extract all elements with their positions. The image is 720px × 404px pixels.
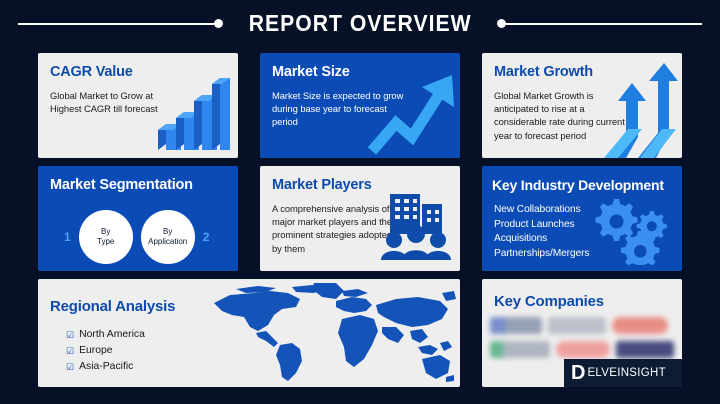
- list-item: New Collaborations: [494, 203, 589, 218]
- gears-icon: [588, 197, 670, 265]
- list-item: Partnerships/Mergers: [494, 247, 589, 262]
- segment-1-line2: Type: [97, 237, 114, 247]
- region-label: Asia-Pacific: [79, 359, 133, 375]
- list-item: Acquisitions: [494, 232, 589, 247]
- card-key-industry-development-title: Key Industry Development: [492, 177, 664, 193]
- company-logo-5: [556, 341, 610, 358]
- card-market-segmentation-title: Market Segmentation: [50, 177, 193, 193]
- delveinsight-logo: D ELVEINSIGHT: [564, 359, 682, 387]
- page-title: REPORT OVERVIEW: [234, 10, 486, 37]
- card-market-growth-body: Global Market Growth is anticipated to r…: [494, 89, 634, 142]
- segment-1-line1: By: [101, 227, 110, 237]
- brand-name: ELVEINSIGHT: [587, 367, 666, 379]
- segment-circle-by-type[interactable]: By Type: [79, 210, 133, 264]
- region-label: North America: [79, 327, 145, 343]
- bar-chart-icon: [154, 74, 230, 150]
- header-rule-left-icon: [18, 23, 214, 25]
- company-logo-2: [548, 317, 606, 334]
- list-item: Product Launches: [494, 218, 589, 233]
- segment-number-2: 2: [203, 230, 210, 244]
- segment-2-line1: By: [163, 227, 172, 237]
- card-market-players-body: A comprehensive analysis of major market…: [272, 202, 394, 255]
- card-market-growth: Market Growth Global Market Growth is an…: [482, 53, 682, 158]
- brand-initial: D: [571, 363, 585, 383]
- card-regional-analysis-title: Regional Analysis: [50, 298, 175, 315]
- card-regional-analysis: Regional Analysis ☑ North America ☑ Euro…: [38, 279, 460, 387]
- company-logos: [490, 317, 674, 358]
- segmentation-circles: 1 By Type By Application 2: [64, 210, 209, 264]
- card-cagr-value: CAGR Value Global Market to Grow at High…: [38, 53, 238, 158]
- card-market-size: Market Size Market Size is expected to g…: [260, 53, 460, 158]
- card-market-players-title: Market Players: [272, 177, 394, 193]
- report-overview-infographic: REPORT OVERVIEW CAGR Value Global Market…: [0, 0, 720, 404]
- card-key-companies-title: Key Companies: [494, 293, 604, 310]
- header-dot-right-icon: [497, 19, 506, 28]
- header: REPORT OVERVIEW: [0, 0, 720, 47]
- card-market-growth-title: Market Growth: [494, 64, 634, 80]
- checkbox-icon: ☑: [66, 331, 74, 340]
- cards-grid: CAGR Value Global Market to Grow at High…: [38, 53, 682, 387]
- regional-analysis-list: ☑ North America ☑ Europe ☑ Asia-Pacific: [66, 327, 145, 375]
- checkbox-icon: ☑: [66, 347, 74, 356]
- company-logo-6: [616, 341, 674, 358]
- card-market-size-body: Market Size is expected to grow during b…: [272, 89, 404, 129]
- list-item[interactable]: ☑ Europe: [66, 343, 145, 359]
- segment-number-1: 1: [64, 230, 71, 244]
- checkbox-icon: ☑: [66, 363, 74, 372]
- world-map-icon: [196, 283, 456, 383]
- segment-2-line2: Application: [148, 237, 187, 247]
- list-item[interactable]: ☑ Asia-Pacific: [66, 359, 145, 375]
- card-key-companies: Key Companies D ELVEINSIGHT: [482, 279, 682, 387]
- list-item[interactable]: ☑ North America: [66, 327, 145, 343]
- company-logo-3: [612, 317, 668, 334]
- card-key-industry-development: Key Industry Development New Collaborati…: [482, 166, 682, 271]
- header-dot-left-icon: [214, 19, 223, 28]
- card-market-segmentation: Market Segmentation 1 By Type By Applica…: [38, 166, 238, 271]
- company-logo-4: [490, 341, 550, 358]
- region-label: Europe: [79, 343, 113, 359]
- card-market-players: Market Players A comprehensive analysis …: [260, 166, 460, 271]
- header-rule-right-icon: [506, 23, 702, 25]
- card-market-size-title: Market Size: [272, 64, 404, 80]
- key-industry-development-list: New Collaborations Product Launches Acqu…: [494, 203, 589, 261]
- segment-circle-by-application[interactable]: By Application: [141, 210, 195, 264]
- company-logo-1: [490, 317, 542, 334]
